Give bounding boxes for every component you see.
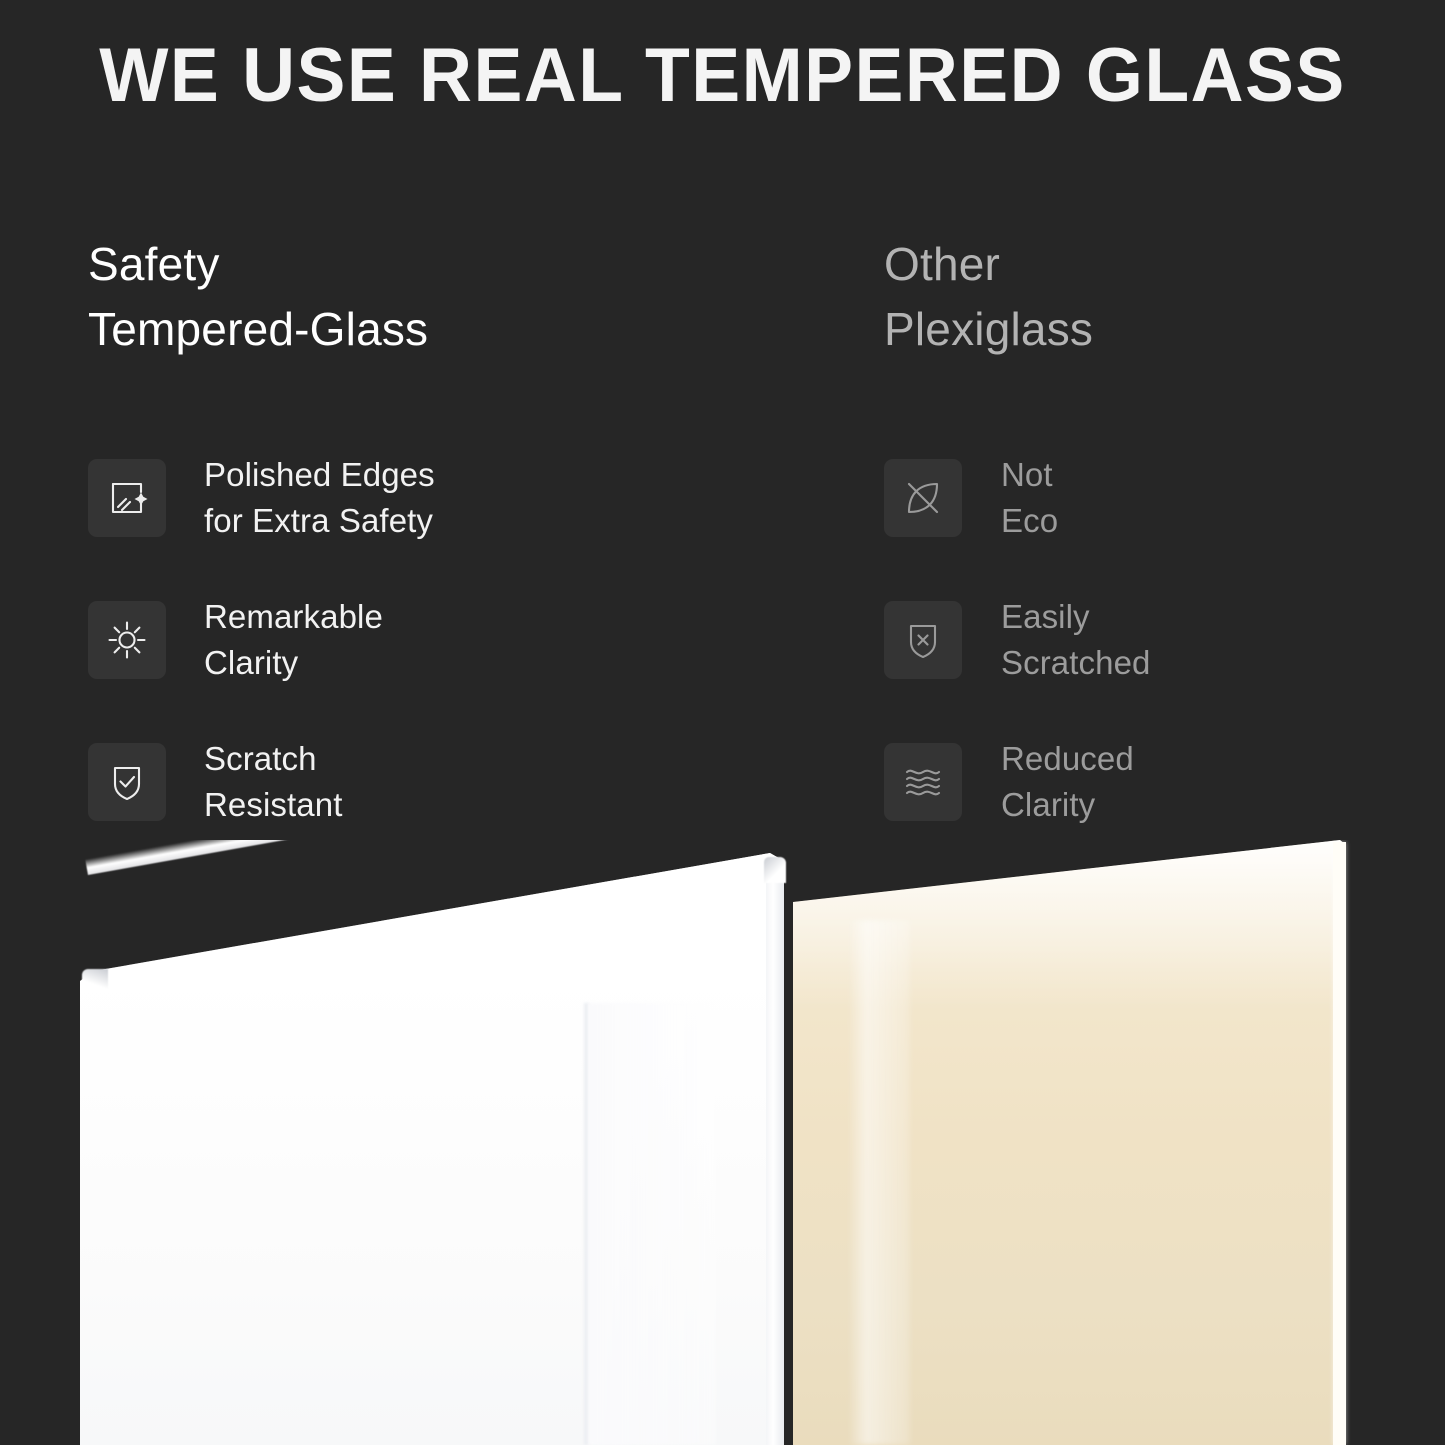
feature-list-other: Not Eco Easily Scratched (884, 437, 1444, 843)
polished-edge-icon (88, 459, 166, 537)
column-safety-tempered-glass: Safety Tempered-Glass Polished Edges for… (88, 232, 788, 363)
feature-list-safety: Polished Edges for Extra Safety Remarkab… (88, 437, 788, 843)
feature-label: Polished Edges for Extra Safety (204, 452, 435, 543)
sun-clarity-icon (88, 601, 166, 679)
column-title-safety: Safety Tempered-Glass (88, 232, 788, 363)
feature-not-eco: Not Eco (884, 437, 1444, 559)
column-title-other: Other Plexiglass (884, 232, 1444, 363)
wavy-lines-icon (884, 743, 962, 821)
tempered-glass-panel (80, 853, 790, 1445)
plexiglass-panel (793, 840, 1445, 1445)
glass-comparison-photo (0, 840, 1445, 1445)
feature-polished-edges: Polished Edges for Extra Safety (88, 437, 788, 559)
column-other-plexiglass: Other Plexiglass Not Eco (884, 232, 1444, 363)
feature-label: Not Eco (1001, 452, 1058, 543)
feature-label: Easily Scratched (1001, 594, 1150, 685)
feature-reduced-clarity: Reduced Clarity (884, 721, 1444, 843)
comparison-columns: Safety Tempered-Glass Polished Edges for… (0, 232, 1445, 852)
feature-remarkable-clarity: Remarkable Clarity (88, 579, 788, 701)
shield-check-icon (88, 743, 166, 821)
leaf-crossed-icon (884, 459, 962, 537)
shield-x-icon (884, 601, 962, 679)
feature-easily-scratched: Easily Scratched (884, 579, 1444, 701)
feature-label: Scratch Resistant (204, 736, 342, 827)
feature-label: Reduced Clarity (1001, 736, 1134, 827)
page-title: WE USE REAL TEMPERED GLASS (25, 38, 1419, 114)
feature-label: Remarkable Clarity (204, 594, 383, 685)
feature-scratch-resistant: Scratch Resistant (88, 721, 788, 843)
